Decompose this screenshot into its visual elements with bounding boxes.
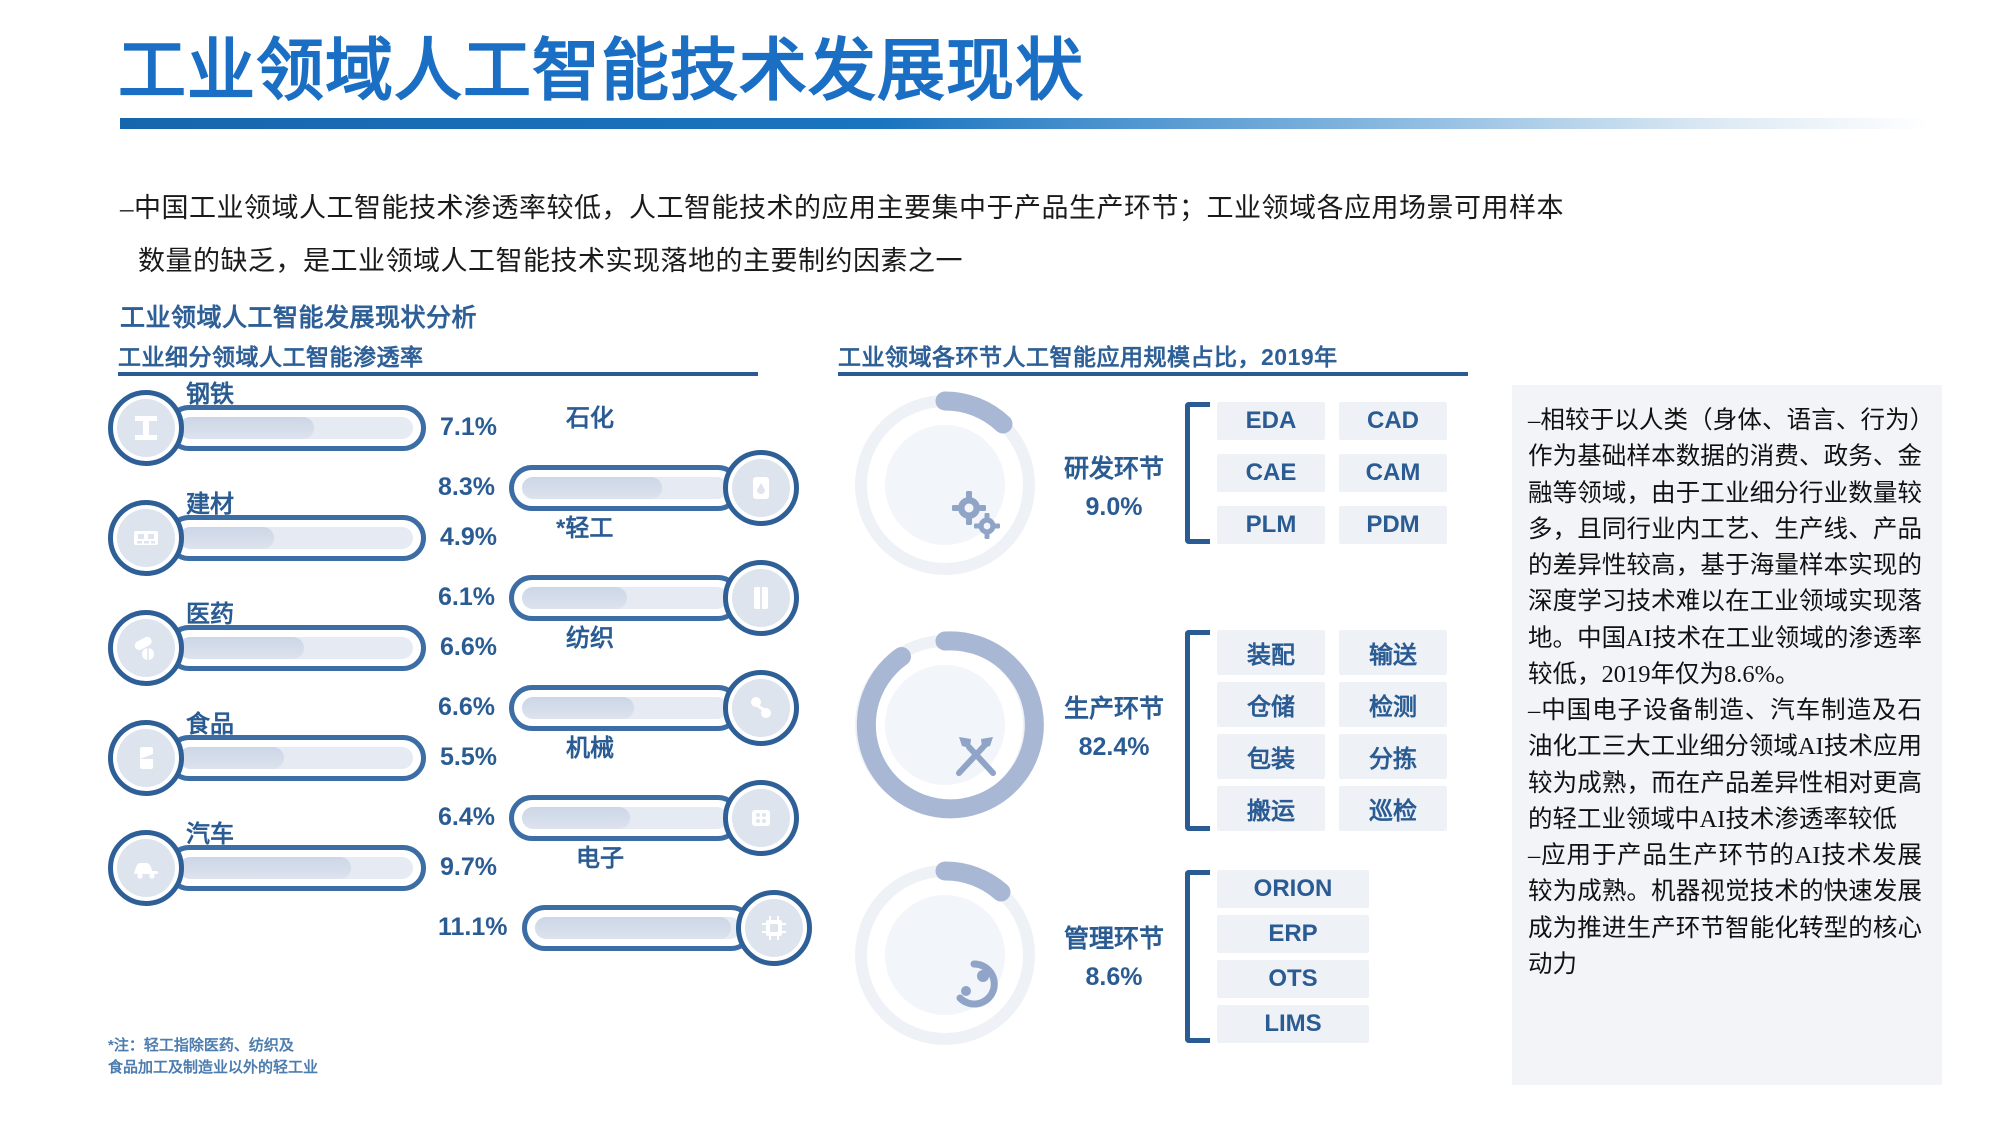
lead-line-1: –中国工业领域人工智能技术渗透率较低，人工智能技术的应用主要集中于产品生产环节；… [120,193,1564,223]
tag[interactable]: 输送 [1339,630,1447,675]
bar-label: 机械 [566,728,614,763]
bar-value: 4.9% [440,523,497,552]
donut-management [840,850,1050,1060]
oil-barrel-icon [723,450,799,526]
section-header: 工业领域人工智能发展现状分析 [120,298,477,334]
donut-value: 8.6% [1064,963,1164,992]
penetration-bar-chart: 7.1% 钢铁 8.3% 石化 4.9% 建材 6.1% [108,380,768,1080]
tag[interactable]: ERP [1217,915,1369,953]
donut-production [840,620,1050,830]
tag[interactable]: PLM [1217,506,1325,544]
bar-value: 9.7% [440,853,497,882]
mid-panel-title: 工业领域各环节人工智能应用规模占比，2019年 [838,338,1338,372]
tag[interactable]: CAD [1339,402,1447,440]
bar-row[interactable]: 11.1% 电子 [438,880,812,975]
bar-label: 建材 [186,484,234,519]
food-can-icon [108,720,184,796]
commentary-panel: –相较于以人类（身体、语言、行为）作为基础样本数据的消费、政务、金融等领域，由于… [1512,385,1942,1085]
title-underline-rule [120,118,1930,129]
donut-label: 研发环节 [1064,449,1164,485]
footnote: *注：轻工指除医药、纺织及 食品加工及制造业以外的轻工业 [108,1035,318,1079]
lead-paragraph: –中国工业领域人工智能技术渗透率较低，人工智能技术的应用主要集中于产品生产环节；… [120,182,1920,287]
bar-label: 石化 [566,398,614,433]
tag[interactable]: 分拣 [1339,734,1447,779]
stage-share-donut-chart: 研发环节 9.0% 生产环节 [840,380,1460,1080]
bracket-icon [1185,402,1205,544]
tag[interactable]: ORION [1217,870,1369,908]
tag[interactable]: LIMS [1217,1005,1369,1043]
tag[interactable]: OTS [1217,960,1369,998]
donut-value: 9.0% [1064,493,1164,522]
donut-value: 82.4% [1064,733,1164,762]
car-icon [108,830,184,906]
bar-label: *轻工 [556,508,613,543]
tag-group-management: ORION ERP OTS LIMS [1185,870,1369,1043]
steel-beam-icon [108,390,184,466]
pills-icon [108,610,184,686]
bracket-icon [1185,630,1205,831]
tag-group-rnd: EDA CAD CAE CAM PLM PDM [1185,402,1447,544]
tag[interactable]: CAM [1339,454,1447,492]
gear-machine-icon [723,780,799,856]
bar-label: 电子 [576,838,624,873]
donut-label: 管理环节 [1064,919,1164,955]
bar-value: 7.1% [440,413,497,442]
bar-label: 汽车 [186,814,234,849]
page-title: 工业领域人工智能技术发展现状 [118,36,1084,107]
donut-group[interactable]: 生产环节 82.4% [840,620,1164,830]
yarn-spool-icon [723,670,799,746]
lead-line-2: 数量的缺乏，是工业领域人工智能技术实现落地的主要制约因素之一 [120,235,1920,288]
tag-group-production: 装配 输送 仓储 检测 包装 分拣 搬运 巡检 [1185,630,1447,831]
bar-label: 医药 [186,594,234,629]
bar-label: 钢铁 [186,374,234,409]
page-title-wrap: 工业领域人工智能技术发展现状 [118,36,1084,107]
tag[interactable]: 装配 [1217,630,1325,675]
tag[interactable]: PDM [1339,506,1447,544]
package-icon [723,560,799,636]
tag[interactable]: 检测 [1339,682,1447,727]
commentary-paragraph-3: –应用于产品生产环节的AI技术发展较为成熟。机器视觉技术的快速发展成为推进生产环… [1528,838,1922,983]
tag[interactable]: 包装 [1217,734,1325,779]
bar-label: 食品 [186,704,234,739]
bracket-icon [1185,870,1205,1043]
commentary-paragraph-1: –相较于以人类（身体、语言、行为）作为基础样本数据的消费、政务、金融等领域，由于… [1528,403,1922,693]
tag[interactable]: CAE [1217,454,1325,492]
donut-rnd [840,380,1050,590]
commentary-paragraph-2: –中国电子设备制造、汽车制造及石油化工三大工业细分领域AI技术应用较为成熟，而在… [1528,693,1922,838]
left-panel-title: 工业细分领域人工智能渗透率 [118,338,424,372]
donut-group[interactable]: 管理环节 8.6% [840,850,1164,1060]
donut-label: 生产环节 [1064,689,1164,725]
tag[interactable]: 仓储 [1217,682,1325,727]
bar-value: 6.6% [440,633,497,662]
bar-value: 5.5% [440,743,497,772]
donut-group[interactable]: 研发环节 9.0% [840,380,1164,590]
brick-wall-icon [108,500,184,576]
mid-panel-rule [838,372,1468,376]
tag[interactable]: 搬运 [1217,786,1325,831]
bar-value: 11.1% [438,913,508,942]
tag[interactable]: EDA [1217,402,1325,440]
bar-label: 纺织 [566,618,614,653]
tag[interactable]: 巡检 [1339,786,1447,831]
chip-icon [736,890,812,966]
